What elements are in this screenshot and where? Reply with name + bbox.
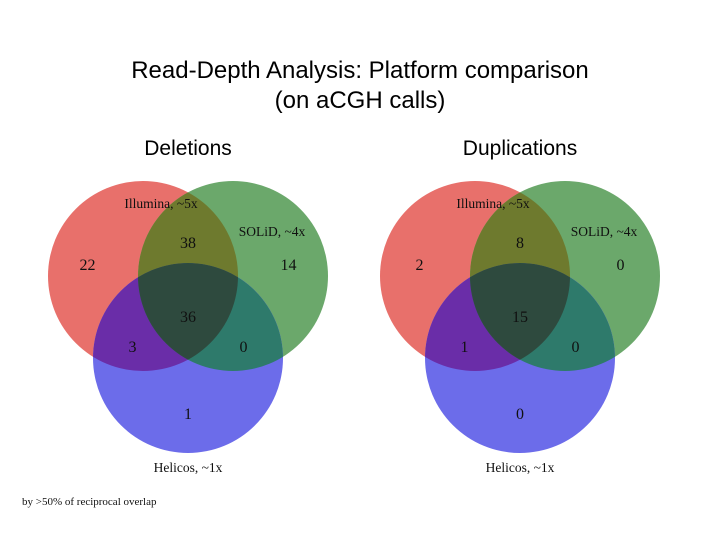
page-title: Read-Depth Analysis: Platform comparison… <box>0 56 720 116</box>
venn-circles-deletions <box>38 172 338 490</box>
venn-diagram-deletions: Illumina, ~5x SOLiD, ~4x Helicos, ~1x 22… <box>38 172 338 490</box>
panel-caption-deletions: Deletions <box>38 136 338 162</box>
venn-circles-duplications <box>370 172 670 490</box>
title-line-1: Read-Depth Analysis: Platform comparison <box>0 56 720 86</box>
title-line-2: (on aCGH calls) <box>0 86 720 116</box>
slide-canvas: Read-Depth Analysis: Platform comparison… <box>0 0 720 540</box>
venn-diagram-duplications: Illumina, ~5x SOLiD, ~4x Helicos, ~1x 2 … <box>370 172 670 490</box>
panel-caption-duplications: Duplications <box>370 136 670 162</box>
footnote: by >50% of reciprocal overlap <box>22 496 156 508</box>
